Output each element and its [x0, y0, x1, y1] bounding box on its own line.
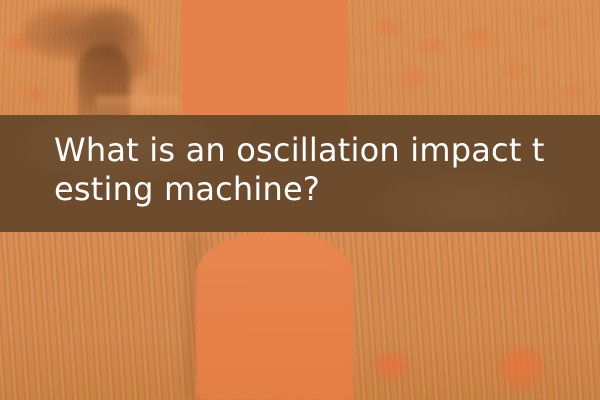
caption-banner: What is an oscillation impact t esting m…: [0, 115, 600, 232]
surface-highlight: [96, 96, 180, 116]
caption-title: What is an oscillation impact t esting m…: [54, 131, 574, 209]
poppy-flower-right-icon: [498, 346, 546, 390]
poppy-flower-left-icon: [372, 352, 412, 380]
dress-shape: [196, 232, 354, 400]
thumbnail-image: What is an oscillation impact t esting m…: [0, 0, 600, 400]
